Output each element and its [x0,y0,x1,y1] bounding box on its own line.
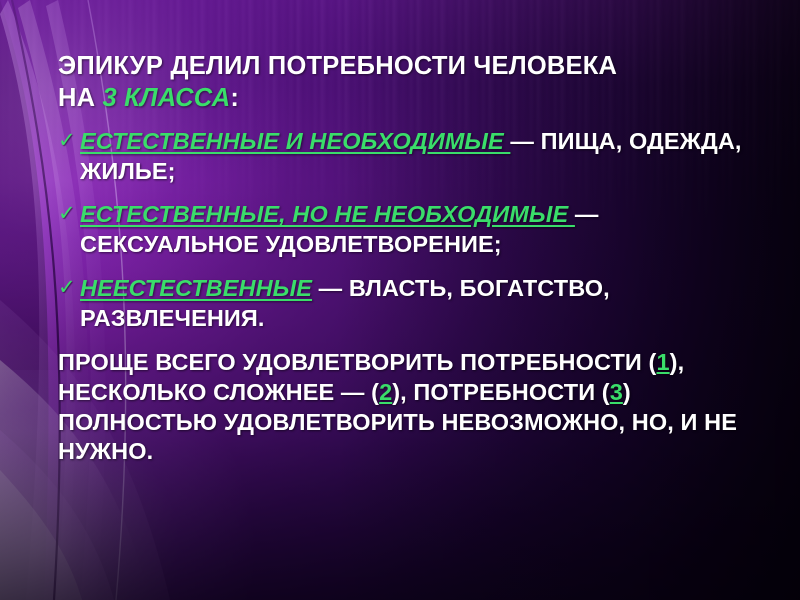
title-highlight-3-classes: 3 КЛАССА [103,84,231,112]
list-item: ✓ ЕСТЕСТВЕННЫЕ, НО НЕ НЕОБХОДИМЫЕ — СЕКС… [58,200,782,260]
title-line-1: ЭПИКУР ДЕЛИЛ ПОТРЕБНОСТИ ЧЕЛОВЕКА [58,52,617,80]
needs-bullet-list: ✓ ЕСТЕСТВЕННЫЕ И НЕОБХОДИМЫЕ — ПИЩА, ОДЕ… [58,127,782,334]
summary-number-2: 2 [379,379,392,405]
summary-segment-1: ПРОЩЕ ВСЕГО УДОВЛЕТВОРИТЬ ПОТРЕБНОСТИ ( [58,349,656,375]
summary-number-3: 3 [610,379,623,405]
slide-title: ЭПИКУР ДЕЛИЛ ПОТРЕБНОСТИ ЧЕЛОВЕКА НА 3 К… [58,50,782,115]
bullet-2-term: ЕСТЕСТВЕННЫЕ, НО НЕ НЕОБХОДИМЫЕ [80,201,575,227]
bullet-1-term: ЕСТЕСТВЕННЫЕ И НЕОБХОДИМЫЕ [80,128,510,154]
title-line-2-suffix: : [230,84,239,112]
slide-content: ЭПИКУР ДЕЛИЛ ПОТРЕБНОСТИ ЧЕЛОВЕКА НА 3 К… [0,0,800,600]
title-line-2-prefix: НА [58,84,103,112]
summary-segment-3: ), ПОТРЕБНОСТИ ( [392,379,609,405]
list-item: ✓ НЕЕСТЕСТВЕННЫЕ — ВЛАСТЬ, БОГАТСТВО, РА… [58,274,782,334]
list-item: ✓ ЕСТЕСТВЕННЫЕ И НЕОБХОДИМЫЕ — ПИЩА, ОДЕ… [58,127,782,187]
summary-paragraph: ПРОЩЕ ВСЕГО УДОВЛЕТВОРИТЬ ПОТРЕБНОСТИ (1… [58,348,758,467]
presentation-slide: ЭПИКУР ДЕЛИЛ ПОТРЕБНОСТИ ЧЕЛОВЕКА НА 3 К… [0,0,800,600]
check-mark-icon: ✓ [58,275,76,300]
summary-number-1: 1 [656,349,669,375]
bullet-3-term: НЕЕСТЕСТВЕННЫЕ [80,275,312,301]
check-mark-icon: ✓ [58,201,76,226]
check-mark-icon: ✓ [58,128,76,153]
